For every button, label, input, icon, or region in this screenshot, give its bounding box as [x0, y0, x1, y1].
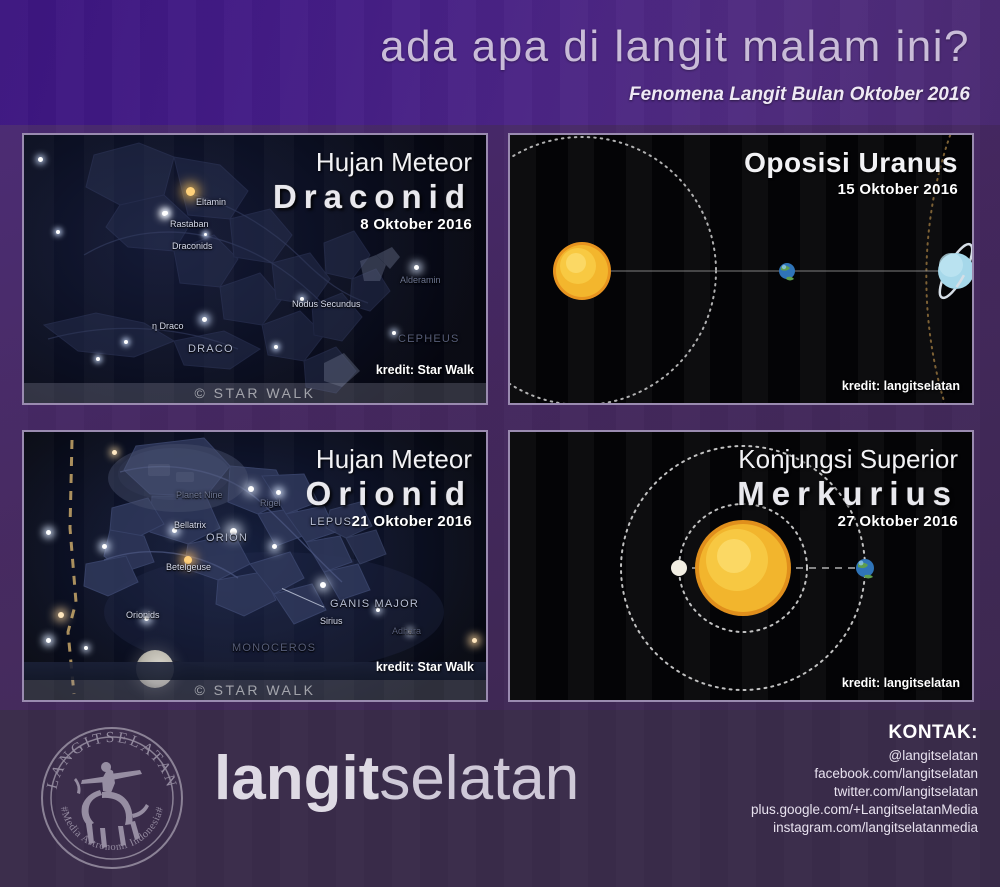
header-band: ada apa di langit malam ini? Fenomena La… [0, 0, 1000, 125]
star [58, 612, 64, 618]
star [84, 646, 88, 650]
star [46, 530, 51, 535]
star [414, 265, 419, 270]
contact-googleplus[interactable]: plus.google.com/+LangitselatanMedia [751, 801, 978, 819]
earth-icon [779, 263, 795, 281]
starwalk-watermark-bar: © STAR WALK [24, 680, 486, 700]
contact-instagram[interactable]: instagram.com/langitselatanmedia [751, 819, 978, 837]
star [96, 357, 100, 361]
star [102, 544, 107, 549]
starwalk-watermark-text: © STAR WALK [194, 682, 315, 698]
panel-credit: kredit: Star Walk [376, 660, 474, 674]
panel-credit: kredit: langitselatan [842, 676, 960, 690]
star [202, 317, 207, 322]
star [112, 450, 117, 455]
star [472, 638, 477, 643]
ecliptic-line [68, 440, 76, 694]
star-rastaban [162, 211, 167, 216]
star-betelgeuse [184, 556, 192, 564]
star [38, 157, 43, 162]
star [272, 544, 277, 549]
page-title: ada apa di langit malam ini? [380, 22, 970, 72]
star-adhara [408, 630, 412, 634]
panel-orionid[interactable]: Planet Nine Rigel Bellatrix ORION LEPUS … [22, 430, 488, 702]
panel-oposisi-uranus[interactable]: Oposisi Uranus 15 Oktober 2016 kredit: l… [508, 133, 974, 405]
sun-icon [695, 520, 791, 616]
contact-twitter[interactable]: twitter.com/langitselatan [751, 783, 978, 801]
wordmark: langitselatan [214, 744, 579, 814]
wordmark-bold: langit [214, 744, 379, 813]
star-rigel [248, 486, 254, 492]
star [204, 233, 207, 236]
panel-credit: kredit: langitselatan [842, 379, 960, 393]
contact-title: KONTAK: [751, 722, 978, 744]
starwalk-watermark-bar: © STAR WALK [24, 383, 486, 403]
contact-facebook[interactable]: facebook.com/langitselatan [751, 765, 978, 783]
star [144, 616, 149, 621]
star [376, 608, 380, 612]
langitselatan-logo[interactable]: LANGITSELATAN #Media Astronomi Indonesia… [36, 722, 188, 874]
earth-icon [856, 559, 874, 579]
sun-icon [553, 242, 611, 300]
panel-konjungsi-merkurius[interactable]: Konjungsi Superior Merkurius 27 Oktober … [508, 430, 974, 702]
star [274, 345, 278, 349]
contact-handle[interactable]: @langitselatan [751, 747, 978, 765]
starwalk-watermark-text: © STAR WALK [194, 385, 315, 401]
page-subtitle: Fenomena Langit Bulan Oktober 2016 [629, 84, 970, 106]
wordmark-light: selatan [379, 744, 579, 813]
mercury-icon [671, 560, 687, 576]
panel-draconid[interactable]: Eltamin Rastaban Draconids Nodus Secundu… [22, 133, 488, 405]
star [124, 340, 128, 344]
star [46, 638, 51, 643]
star-eltamin [186, 187, 195, 196]
star [276, 490, 281, 495]
panel-credit: kredit: Star Walk [376, 363, 474, 377]
mercury-conjunction-diagram [510, 432, 974, 702]
star [300, 297, 304, 301]
star-bellatrix [172, 528, 177, 533]
uranus-icon [934, 240, 974, 301]
star [230, 528, 237, 535]
uranus-orbit-diagram [510, 135, 974, 405]
star-sirius [320, 582, 326, 588]
star [56, 230, 60, 234]
contact-block: KONTAK: @langitselatan facebook.com/lang… [751, 722, 978, 837]
star [392, 331, 396, 335]
